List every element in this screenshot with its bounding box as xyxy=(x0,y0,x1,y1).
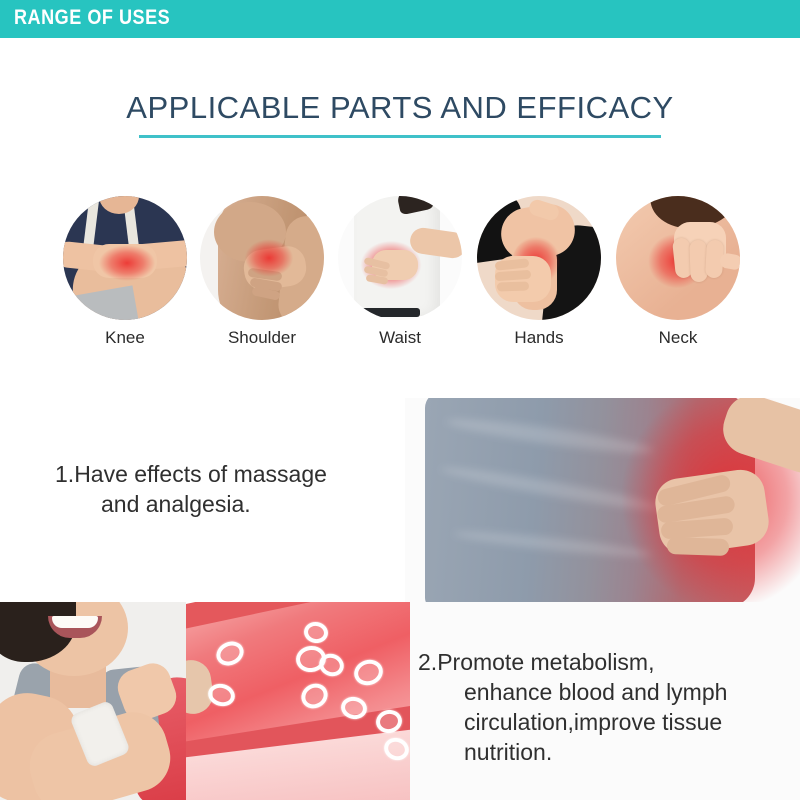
part-label-knee: Knee xyxy=(63,328,187,348)
page-title: APPLICABLE PARTS AND EFFICACY xyxy=(0,90,800,126)
lower-back-pain-photo xyxy=(405,398,800,602)
range-of-uses-banner: RANGE OF USES xyxy=(0,0,800,38)
part-label-shoulder: Shoulder xyxy=(200,328,324,348)
part-item-knee[interactable]: Knee xyxy=(63,196,187,348)
banner-title: RANGE OF USES xyxy=(14,6,170,30)
benefit-text-1: 1.Have effects of massage and analgesia. xyxy=(55,460,385,520)
waist-pain-photo xyxy=(338,196,462,320)
benefit-text-2: 2.Promote metabolism, enhance blood and … xyxy=(418,648,788,768)
part-item-shoulder[interactable]: Shoulder xyxy=(200,196,324,348)
part-label-waist: Waist xyxy=(338,328,462,348)
part-label-hands: Hands xyxy=(477,328,601,348)
title-underline-divider xyxy=(139,135,661,138)
benefit-1-line2: and analgesia. xyxy=(78,490,385,520)
applicable-parts-row: Knee Shoulder Waist xyxy=(0,196,800,356)
part-label-neck: Neck xyxy=(616,328,740,348)
hands-pain-photo xyxy=(477,196,601,320)
benefit-2-line4: nutrition. xyxy=(441,738,788,768)
benefit-2-number: 2. xyxy=(418,649,437,675)
part-item-waist[interactable]: Waist xyxy=(338,196,462,348)
part-item-neck[interactable]: Neck xyxy=(616,196,740,348)
neck-pain-photo xyxy=(616,196,740,320)
part-item-hands[interactable]: Hands xyxy=(477,196,601,348)
benefit-1-line1: Have effects of massage xyxy=(74,461,327,487)
woman-wristband-photo xyxy=(0,602,210,800)
benefit-2-line3: circulation,improve tissue xyxy=(441,708,788,738)
shoulder-pain-photo xyxy=(200,196,324,320)
knee-pain-photo xyxy=(63,196,187,320)
benefit-2-line1: Promote metabolism, xyxy=(437,649,654,675)
benefit-1-number: 1. xyxy=(55,461,74,487)
blood-vessel-illustration xyxy=(186,602,410,800)
benefit-2-line2: enhance blood and lymph xyxy=(441,678,788,708)
